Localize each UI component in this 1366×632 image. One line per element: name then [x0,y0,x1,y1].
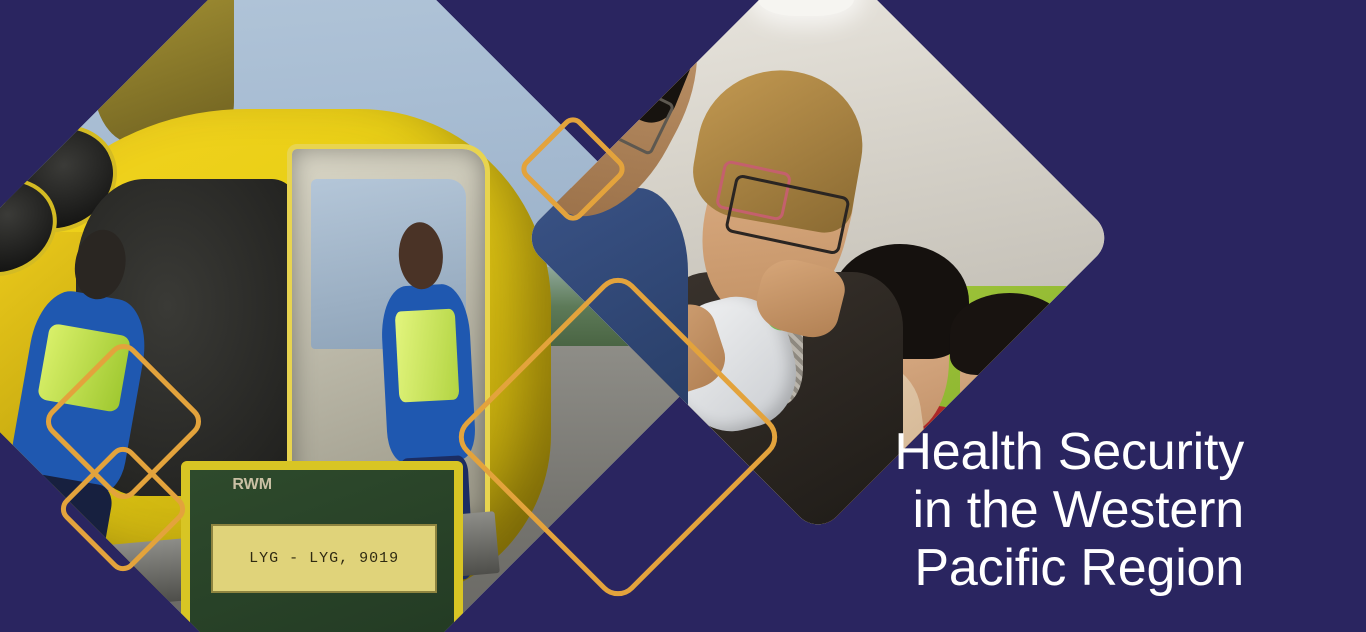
cart-id-label: LYG - LYG, 9019 [211,524,437,594]
banner-canvas: RWM LYG - LYG, 9019 VY [0,0,1366,632]
hi-vis-vest-right [394,308,459,403]
cart-top-text: RWM [232,476,272,494]
equipment-cart: RWM LYG - LYG, 9019 VY [181,461,463,632]
page-title: Health Security in the Western Pacific R… [894,424,1244,598]
